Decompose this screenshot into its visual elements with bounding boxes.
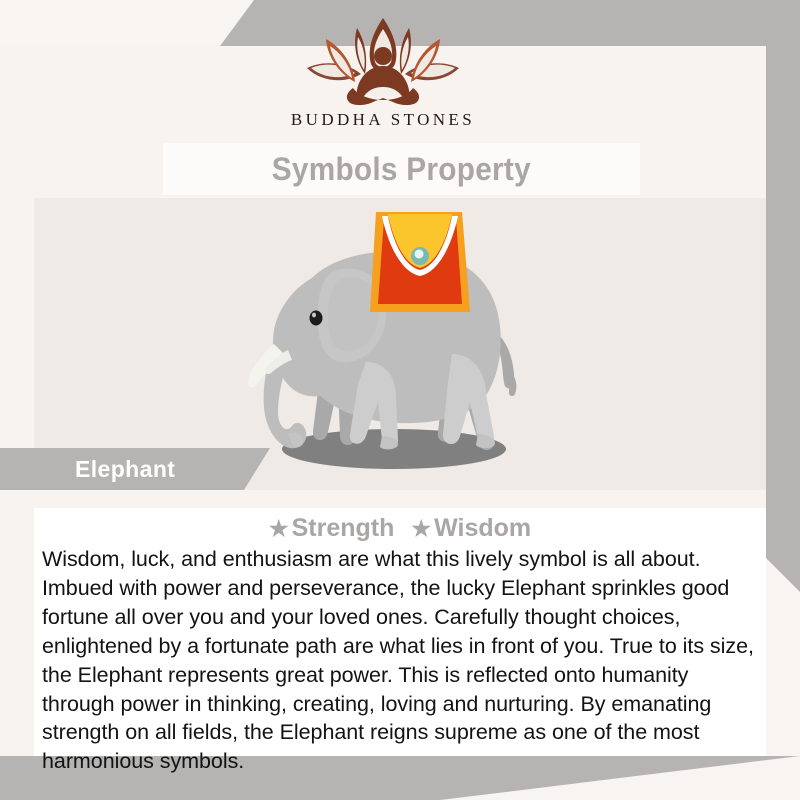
symbol-property-card: BUDDHA STONES Symbols Property — [0, 0, 800, 800]
elephant-saddle — [370, 212, 470, 312]
description-paragraph: Wisdom, luck, and enthusiasm are what th… — [34, 545, 766, 776]
symbol-name-tag: Elephant — [0, 448, 270, 490]
title-banner: Symbols Property — [163, 143, 640, 195]
brand-logo: BUDDHA STONES — [0, 16, 766, 130]
stage-divider — [0, 490, 766, 508]
symbol-name: Elephant — [75, 456, 175, 483]
trait-strength: Strength — [292, 514, 395, 542]
frame-band-right — [766, 0, 800, 592]
page-title: Symbols Property — [272, 151, 531, 188]
illustration-stage — [34, 198, 766, 490]
lotus-meditation-icon — [295, 16, 471, 108]
star-icon: ★ — [411, 516, 431, 541]
elephant-eye — [310, 311, 323, 326]
brand-name: BUDDHA STONES — [0, 110, 766, 130]
trait-wisdom: Wisdom — [434, 514, 531, 542]
description-card: ★Strength★Wisdom Wisdom, luck, and enthu… — [34, 508, 766, 756]
elephant-illustration — [216, 204, 546, 484]
trait-list: ★Strength★Wisdom — [34, 508, 766, 543]
star-icon: ★ — [269, 516, 289, 541]
